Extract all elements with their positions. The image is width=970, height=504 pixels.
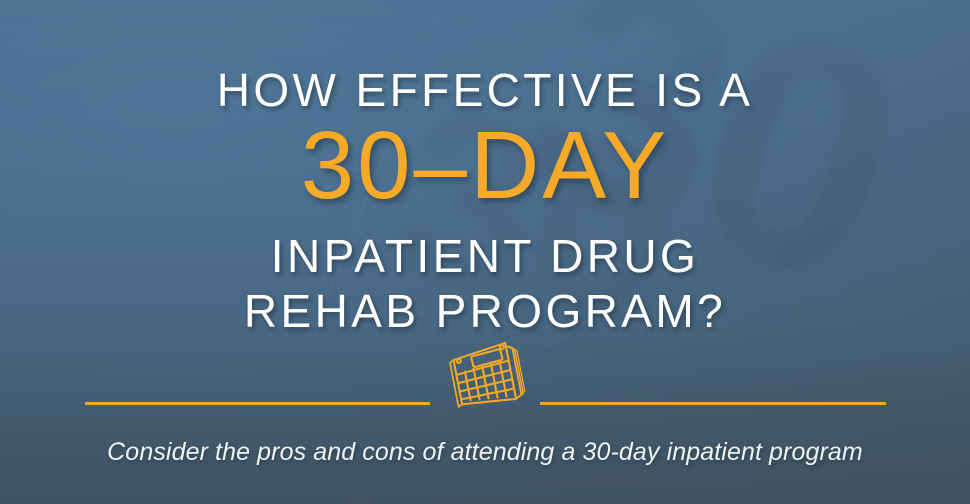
infographic-banner: 30 30 HOW EFFECTIVE IS A 30–DAY INPATIEN… [0, 0, 970, 504]
calendar-icon [437, 338, 537, 412]
divider-row [0, 336, 970, 412]
divider-rule-left [85, 402, 430, 405]
headline-line-2: INPATIENT DRUG [0, 228, 970, 286]
headline-line-1: HOW EFFECTIVE IS A [0, 63, 970, 117]
banner-content: HOW EFFECTIVE IS A 30–DAY INPATIENT DRUG… [0, 0, 970, 504]
headline-highlight-30-day: 30–DAY [0, 118, 970, 214]
headline-line-3: REHAB PROGRAM? [0, 283, 970, 341]
divider-rule-right [540, 402, 886, 405]
subtitle-text: Consider the pros and cons of attending … [0, 438, 970, 467]
